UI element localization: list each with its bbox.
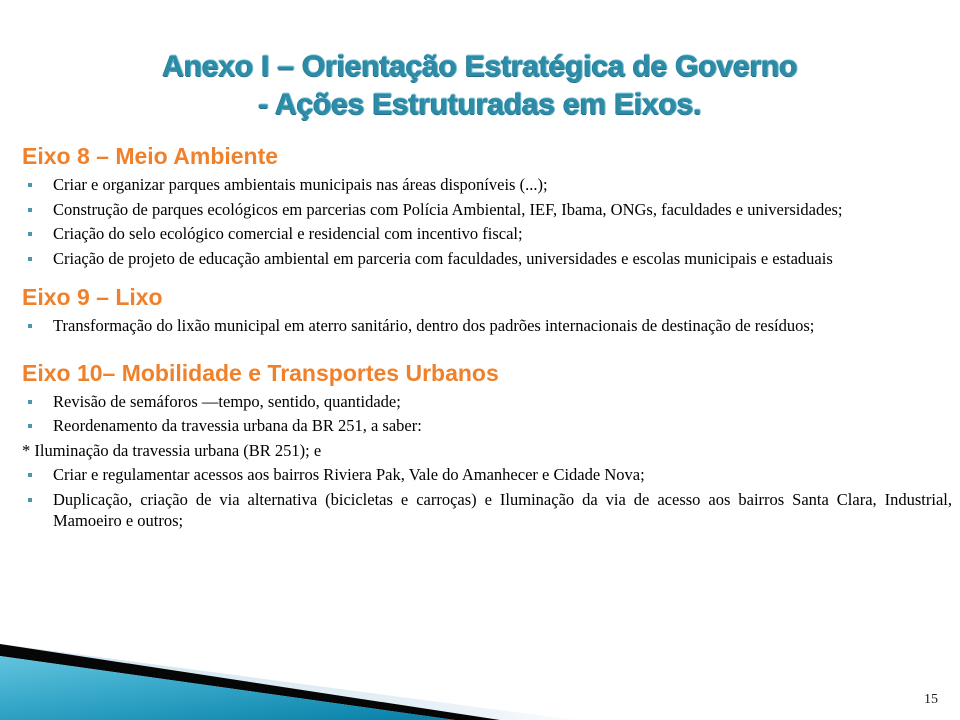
list-item: Criar e regulamentar acessos aos bairros… <box>22 464 952 486</box>
list-item-text: Construção de parques ecológicos em parc… <box>53 200 843 219</box>
square-bullet-icon <box>28 324 32 328</box>
square-bullet-icon <box>28 498 32 502</box>
slide-content: Eixo 8 – Meio Ambiente Criar e organizar… <box>22 142 952 532</box>
square-bullet-icon <box>28 400 32 404</box>
page-title-line-2: - Ações Estruturadas em Eixos. <box>0 86 960 124</box>
page-title-line-1: Anexo I – Orientação Estratégica de Gove… <box>0 48 960 86</box>
list-item: Criação do selo ecológico comercial e re… <box>22 223 952 245</box>
bottom-left-diagonal-banner-icon <box>0 630 700 720</box>
list-item-text: Revisão de semáforos —tempo, sentido, qu… <box>53 392 401 411</box>
section-eixo-10: Eixo 10– Mobilidade e Transportes Urbano… <box>22 359 952 532</box>
section-eixo-8: Eixo 8 – Meio Ambiente Criar e organizar… <box>22 142 952 269</box>
section-heading-eixo-10: Eixo 10– Mobilidade e Transportes Urbano… <box>22 359 952 388</box>
section-spacer <box>22 337 952 359</box>
square-bullet-icon <box>28 208 32 212</box>
list-item-text: Reordenamento da travessia urbana da BR … <box>53 416 422 435</box>
list-item-text: Criar e regulamentar acessos aos bairros… <box>53 465 645 484</box>
list-item-text: Criação de projeto de educação ambiental… <box>53 249 833 268</box>
list-item-text: Criação do selo ecológico comercial e re… <box>53 224 523 243</box>
square-bullet-icon <box>28 424 32 428</box>
bullet-list-eixo-9: Transformação do lixão municipal em ater… <box>22 315 952 337</box>
section-spacer <box>22 269 952 283</box>
list-item: Revisão de semáforos —tempo, sentido, qu… <box>22 391 952 413</box>
square-bullet-icon <box>28 232 32 236</box>
list-item: Criar e organizar parques ambientais mun… <box>22 174 952 196</box>
deco-pale-band <box>0 644 575 720</box>
square-bullet-icon <box>28 257 32 261</box>
section-heading-eixo-8: Eixo 8 – Meio Ambiente <box>22 142 952 171</box>
deco-black-stripe <box>0 644 500 720</box>
deco-teal-triangle <box>0 656 455 720</box>
list-item-text: Duplicação, criação de via alternativa (… <box>53 490 952 531</box>
page-title: Anexo I – Orientação Estratégica de Gove… <box>0 48 960 124</box>
list-item: Reordenamento da travessia urbana da BR … <box>22 415 952 437</box>
list-item: Duplicação, criação de via alternativa (… <box>22 489 952 532</box>
section-eixo-9: Eixo 9 – Lixo Transformação do lixão mun… <box>22 283 952 337</box>
list-item-plain: * Iluminação da travessia urbana (BR 251… <box>22 440 952 462</box>
list-item: Construção de parques ecológicos em parc… <box>22 199 952 221</box>
list-item-text: Transformação do lixão municipal em ater… <box>53 316 814 335</box>
square-bullet-icon <box>28 183 32 187</box>
square-bullet-icon <box>28 473 32 477</box>
page-number: 15 <box>924 692 938 708</box>
list-item: Criação de projeto de educação ambiental… <box>22 248 952 270</box>
section-heading-eixo-9: Eixo 9 – Lixo <box>22 283 952 312</box>
bullet-list-eixo-8: Criar e organizar parques ambientais mun… <box>22 174 952 269</box>
list-item-text: Criar e organizar parques ambientais mun… <box>53 175 548 194</box>
bullet-list-eixo-10: Revisão de semáforos —tempo, sentido, qu… <box>22 391 952 532</box>
list-item: Transformação do lixão municipal em ater… <box>22 315 952 337</box>
